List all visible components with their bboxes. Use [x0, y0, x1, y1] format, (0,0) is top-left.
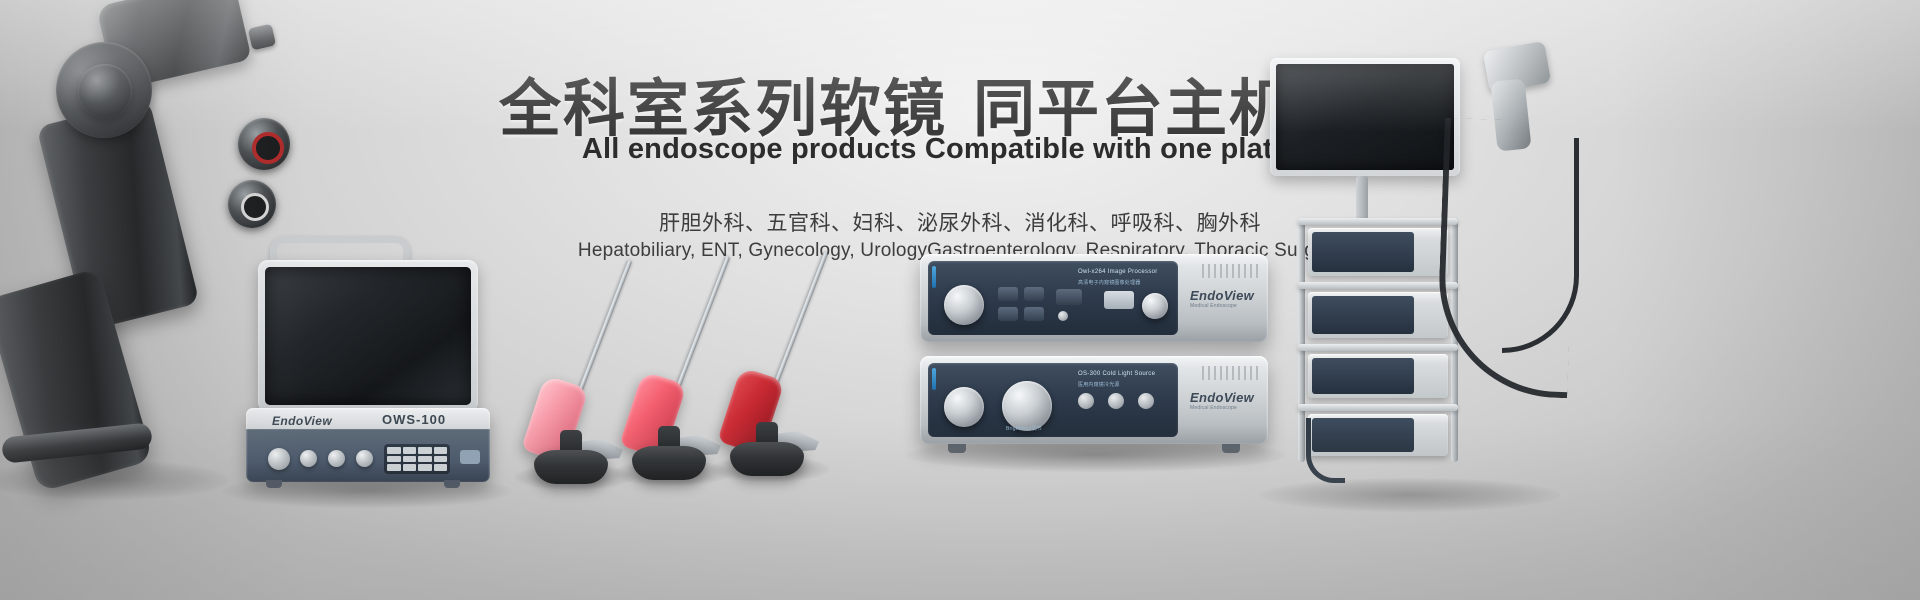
image-processor-front-panel: Owl-x264 Image Processor 高清电子内窥镜图像处理器	[928, 261, 1178, 335]
rigid-scope-rose-stand	[632, 446, 706, 480]
trolley-shelf-3	[1298, 344, 1458, 351]
product-image-processor: Owl-x264 Image Processor 高清电子内窥镜图像处理器 En…	[920, 254, 1268, 342]
image-processor-button-2	[1024, 287, 1044, 301]
light-source-brand-sub: Medical Endoscope	[1190, 405, 1254, 411]
image-processor-vents	[1202, 264, 1260, 278]
product-led-light-source: OS-300 Cold Light Source 医用内窥镜冷光源 Bright…	[920, 356, 1268, 444]
rigid-scope-pink-stand	[534, 450, 608, 484]
trolley-shelf-2	[1298, 282, 1458, 289]
workstation-model-label: OWS-100	[382, 412, 446, 427]
product-processor-stack: Owl-x264 Image Processor 高清电子内窥镜图像处理器 En…	[920, 254, 1270, 454]
image-processor-accent-tag	[932, 266, 936, 288]
light-source-brightness-dial[interactable]	[1002, 381, 1052, 431]
trolley-shadow	[1260, 478, 1560, 512]
workstation-knob-main	[268, 448, 290, 470]
workstation-port	[460, 450, 480, 464]
trolley-frame	[1298, 218, 1458, 462]
light-source-dial-label: Brightness调节	[1006, 425, 1042, 432]
image-processor-title-en: Owl-x264 Image Processor	[1078, 269, 1158, 275]
image-processor-indicator-1	[1058, 311, 1068, 321]
image-processor-brand-sub: Medical Endoscope	[1190, 303, 1254, 309]
rigid-scope-red-shaft	[720, 244, 824, 394]
processor-foot-left	[948, 444, 966, 453]
image-processor-main-dial	[944, 285, 984, 325]
product-rigid-scope-red	[706, 244, 856, 494]
workstation-display-bezel	[258, 260, 478, 412]
light-source-title-cn: 医用内窥镜冷光源	[1078, 381, 1120, 388]
trolley-cable	[1306, 418, 1345, 483]
workstation-foot-left	[266, 480, 282, 488]
workstation-screen	[265, 267, 471, 405]
trolley-shelf-1	[1298, 218, 1458, 225]
light-source-accent-tag	[932, 368, 936, 390]
image-processor-title-cn: 高清电子内窥镜图像处理器	[1078, 279, 1140, 286]
workstation-keypad	[384, 444, 450, 474]
workstation-knob-2	[300, 450, 317, 467]
light-source-button-run[interactable]	[1078, 393, 1094, 409]
endoscope-red-dial	[238, 118, 290, 170]
trolley-device-3-panel	[1312, 358, 1414, 394]
workstation-knob-3	[328, 450, 345, 467]
trolley-device-1-panel	[1312, 232, 1414, 272]
image-processor-secondary-dial	[1142, 293, 1168, 319]
endoscope-angulation-knob-inner	[78, 64, 132, 118]
trolley-monitor	[1270, 58, 1460, 176]
trolley-flexible-scope	[1440, 46, 1590, 406]
image-processor-button-1	[998, 287, 1018, 301]
image-processor-button-4	[1024, 307, 1044, 321]
light-source-button-pump[interactable]	[1138, 393, 1154, 409]
workstation-knob-4	[356, 450, 373, 467]
light-source-brand-name: EndoView	[1190, 390, 1254, 405]
light-source-title-en: OS-300 Cold Light Source	[1078, 371, 1155, 377]
product-workstation-monitor: EndoView OWS-100	[232, 236, 502, 486]
processor-foot-right	[1222, 444, 1240, 453]
light-source-front-panel: OS-300 Cold Light Source 医用内窥镜冷光源 Bright…	[928, 363, 1178, 437]
rigid-scope-red-stand	[730, 442, 804, 476]
endoscope-product-banner: 全科室系列软镜同平台主机兼容 All endoscope products Co…	[0, 0, 1920, 600]
trolley-monitor-screen	[1276, 64, 1454, 170]
light-source-brand: EndoView Medical Endoscope	[1190, 390, 1254, 411]
light-source-port-dial	[944, 387, 984, 427]
trolley-shelf-4	[1298, 404, 1458, 411]
trolley-post-left	[1298, 218, 1305, 462]
image-processor-button-3	[998, 307, 1018, 321]
endoscope-white-dial	[228, 180, 276, 228]
image-processor-usb-port	[1104, 291, 1134, 309]
trolley-device-1	[1308, 228, 1448, 276]
trolley-device-3	[1308, 354, 1448, 398]
endoscope-button-3	[248, 24, 276, 51]
image-processor-brand: EndoView Medical Endoscope	[1190, 288, 1254, 309]
product-endoscopy-trolley	[1290, 30, 1590, 490]
light-source-vents	[1202, 366, 1260, 380]
workstation-foot-right	[444, 480, 460, 488]
light-source-button-white-balance[interactable]	[1108, 393, 1124, 409]
trolley-device-2-panel	[1312, 296, 1414, 334]
trolley-monitor-arm	[1356, 176, 1368, 220]
image-processor-brand-name: EndoView	[1190, 288, 1254, 303]
workstation-brand-label: EndoView	[272, 414, 332, 428]
trolley-device-2	[1308, 292, 1448, 338]
image-processor-button-5	[1056, 289, 1082, 305]
